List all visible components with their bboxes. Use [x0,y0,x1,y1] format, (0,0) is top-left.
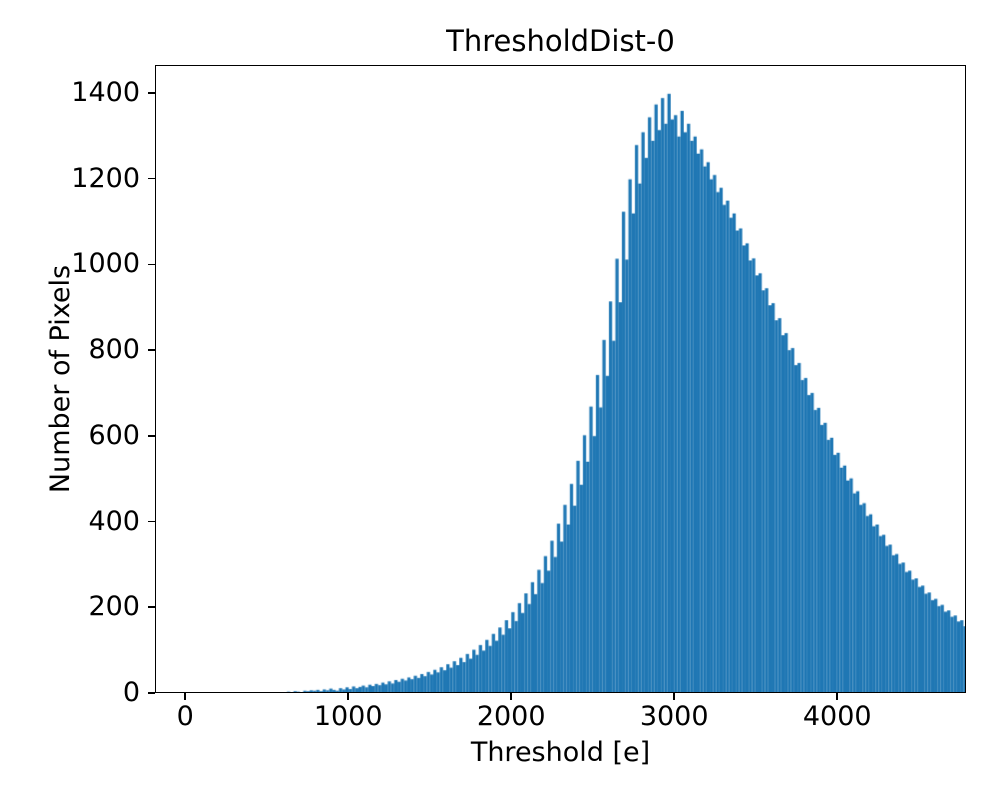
x-tick-mark [510,693,512,700]
y-tick-label: 200 [88,591,140,623]
y-tick-mark [148,692,155,694]
chart-title: ThresholdDist-0 [155,24,966,58]
y-tick-label: 1400 [71,77,140,109]
y-tick-mark [148,606,155,608]
y-tick-mark [148,349,155,351]
y-tick-label: 1200 [71,163,140,195]
x-tick-label: 2000 [477,701,546,733]
y-axis-label: Number of Pixels [45,65,76,693]
y-tick-mark [148,92,155,94]
y-tick-label: 1000 [71,248,140,280]
y-tick-label: 0 [123,677,140,709]
x-tick-mark [673,693,675,700]
histogram-bars [156,66,965,692]
x-tick-mark [347,693,349,700]
x-tick-label: 1000 [314,701,383,733]
x-axis-label: Threshold [e] [155,737,966,768]
x-tick-label: 4000 [803,701,872,733]
y-tick-label: 600 [88,420,140,452]
x-tick-mark [836,693,838,700]
y-tick-label: 800 [88,334,140,366]
figure-canvas: ThresholdDist-0 01000200030004000 020040… [0,0,1000,800]
y-tick-mark [148,521,155,523]
y-tick-mark [148,178,155,180]
x-tick-label: 3000 [640,701,709,733]
x-tick-label: 0 [177,701,194,733]
y-tick-label: 400 [88,506,140,538]
x-tick-mark [184,693,186,700]
y-tick-mark [148,264,155,266]
plot-axes [155,65,966,693]
y-tick-mark [148,435,155,437]
